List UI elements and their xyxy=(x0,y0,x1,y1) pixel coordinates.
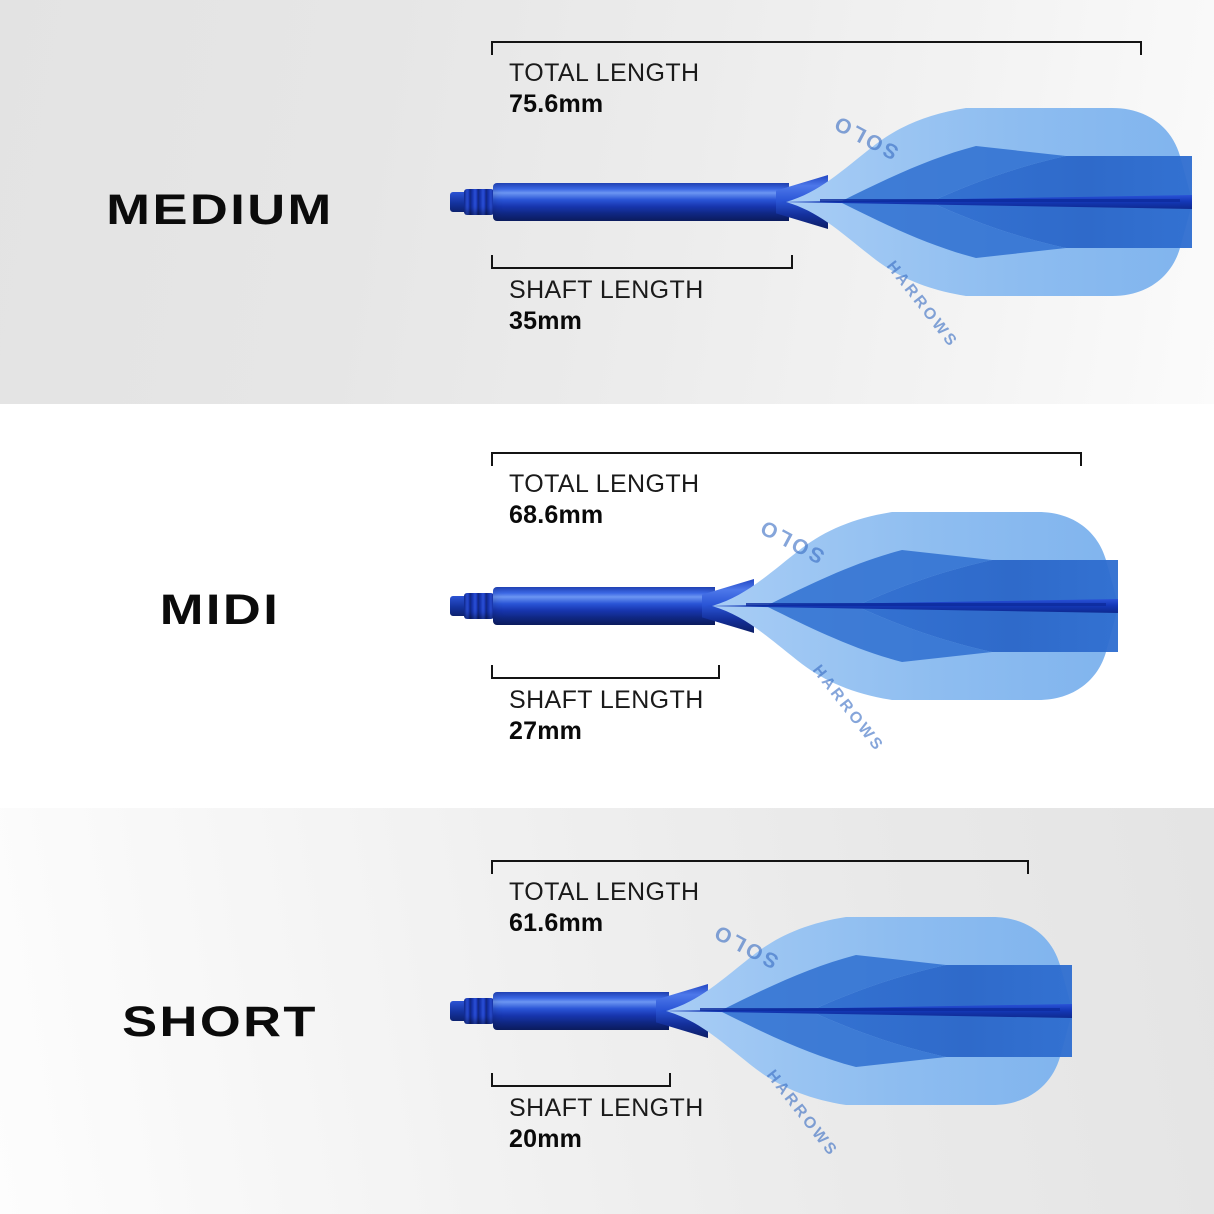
flight-midi: SOLO HARROWS xyxy=(706,456,1126,756)
size-panel-medium: MEDIUM TOTAL LENGTH 75.6mm SHAFT LENGTH … xyxy=(0,0,1214,404)
shaft-barrel xyxy=(493,992,669,1030)
size-panel-midi: MIDI TOTAL LENGTH 68.6mm SHAFT LENGTH 27… xyxy=(0,404,1214,808)
flight-medium: SOLO HARROWS xyxy=(780,52,1200,352)
dart-midi: SOLO HARROWS xyxy=(450,404,1150,808)
shaft-barrel xyxy=(493,587,715,625)
spec-sheet: MEDIUM TOTAL LENGTH 75.6mm SHAFT LENGTH … xyxy=(0,0,1214,1214)
dart-short: SOLO HARROWS xyxy=(450,808,1110,1214)
size-label-midi: MIDI xyxy=(13,586,428,635)
flight-short: SOLO HARROWS xyxy=(660,861,1080,1161)
flight-spine-line xyxy=(700,1008,1060,1011)
size-panel-short: SHORT TOTAL LENGTH 61.6mm SHAFT LENGTH 2… xyxy=(0,808,1214,1214)
size-label-medium: MEDIUM xyxy=(13,186,428,235)
size-label-short: SHORT xyxy=(13,998,428,1047)
dart-medium: SOLO HARROWS xyxy=(450,0,1210,404)
flight-spine-line xyxy=(746,603,1106,606)
shaft-thread-icon xyxy=(464,189,494,215)
flight-spine-line xyxy=(820,199,1180,202)
shaft-thread-icon xyxy=(464,593,494,619)
shaft-medium xyxy=(464,0,824,404)
shaft-barrel xyxy=(493,183,789,221)
shaft-thread-icon xyxy=(464,998,494,1024)
